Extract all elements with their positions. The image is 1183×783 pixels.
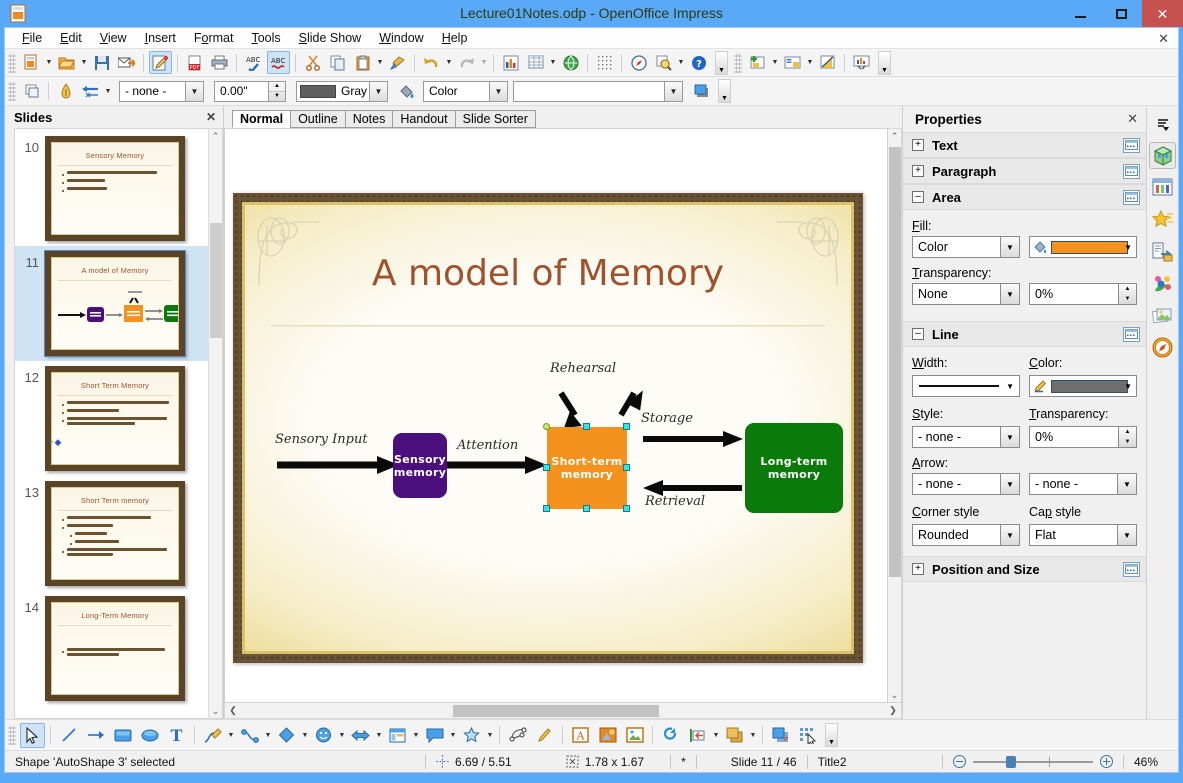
fill-type-chevron-down-icon[interactable]: ▼: [1000, 237, 1019, 257]
picture-frame-button[interactable]: [622, 723, 647, 748]
redo-button[interactable]: [455, 51, 478, 74]
close-button[interactable]: ✕: [1142, 0, 1183, 27]
slide-thumbnail[interactable]: Short Term memory: [45, 481, 185, 586]
corner-style-select[interactable]: Rounded ▼: [912, 524, 1020, 546]
text-dialog-icon[interactable]: [1123, 138, 1140, 153]
thumb-title: A model of Memory: [52, 266, 178, 275]
paint-bucket-button[interactable]: [395, 80, 418, 103]
fill-color-picker[interactable]: ▼: [1029, 236, 1137, 258]
slides-panel-header: Slides ✕: [5, 106, 223, 128]
display-grid-button[interactable]: [593, 51, 616, 74]
thumb-title: Short Term memory: [52, 496, 178, 505]
node-label-line2: memory: [551, 468, 622, 481]
maximize-button[interactable]: [1101, 0, 1142, 27]
block-arrows-dropdown[interactable]: ▼: [374, 724, 384, 747]
save-document-button[interactable]: [90, 51, 113, 74]
slide-thumbnail[interactable]: Sensory Memory: [45, 136, 185, 241]
svg-text:A: A: [576, 730, 586, 743]
menu-bar: File Edit View Insert Format Tools Slide…: [5, 28, 1178, 49]
area-dialog-icon[interactable]: [1123, 190, 1140, 205]
line-style-value: - none -: [125, 84, 166, 98]
arrow-end-chevron-down-icon[interactable]: ▼: [1117, 474, 1136, 494]
flowchart-shapes-dropdown[interactable]: ▼: [411, 724, 421, 747]
autospellcheck-button[interactable]: ABC: [267, 51, 290, 74]
stars-shapes-dropdown[interactable]: ▼: [485, 724, 495, 747]
redo-dropdown[interactable]: ▼: [479, 51, 489, 74]
alignment-button[interactable]: [685, 723, 710, 748]
slide-inner: A model of Memory: [242, 202, 854, 654]
cap-style-select[interactable]: Flat ▼: [1029, 524, 1137, 546]
arrow-start-select[interactable]: - none - ▼: [912, 473, 1020, 495]
slide-thumbnail[interactable]: Long-Term Memory: [45, 596, 185, 701]
line-style-label: Style:: [912, 407, 1020, 421]
line-width-stepper[interactable]: ▲▼: [268, 82, 285, 101]
slides-panel-scrollbar[interactable]: ⌃ ⌄: [208, 129, 222, 718]
selection-handle-w[interactable]: [543, 464, 550, 471]
thumb-title: Short Term Memory: [52, 381, 178, 390]
selection-handle-se[interactable]: [623, 505, 630, 512]
slide-design-button[interactable]: [816, 51, 839, 74]
line-section-body: Width: Color: ▼: [903, 347, 1146, 556]
tab-slide-sorter[interactable]: Slide Sorter: [455, 110, 536, 128]
slide-thumb-14[interactable]: 14 Long-Term Memory: [15, 591, 208, 706]
drawing-toolbar-overflow[interactable]: ▼: [825, 723, 838, 747]
section-position-and-size[interactable]: + Position and Size: [903, 556, 1146, 582]
line-color-swatch: [300, 85, 336, 98]
close-document-icon[interactable]: ✕: [1158, 31, 1169, 47]
menu-window[interactable]: Window: [370, 29, 432, 47]
minimize-button[interactable]: [1060, 0, 1101, 27]
line-transparency-label: Transparency:: [1029, 407, 1137, 421]
svg-text:ABC: ABC: [271, 57, 285, 65]
status-zoom-level[interactable]: 46%: [1124, 754, 1178, 770]
line-transparency-value: 0%: [1035, 430, 1053, 444]
expand-text-icon[interactable]: +: [912, 139, 924, 151]
slide-number: 10: [15, 136, 45, 155]
status-slide-counter: Slide 11 / 46: [721, 754, 807, 770]
node-long-term-memory[interactable]: Long-term memory: [745, 423, 843, 513]
area-transparency-value-field[interactable]: 0% ▲▼: [1029, 283, 1137, 305]
block-arrows-button[interactable]: [348, 723, 373, 748]
interaction-button[interactable]: [795, 723, 820, 748]
status-size-value: 1.78 x 1.67: [585, 755, 644, 769]
area-transparency-stepper[interactable]: ▲▼: [1118, 284, 1136, 304]
line-transparency-field[interactable]: 0% ▲▼: [1029, 426, 1137, 448]
zoom-slider[interactable]: [943, 754, 1123, 770]
menu-view[interactable]: View: [91, 29, 136, 47]
text-tool-button[interactable]: T: [164, 723, 189, 748]
cut-button[interactable]: [301, 51, 324, 74]
label-attention[interactable]: Attention: [457, 438, 518, 453]
slides-panel-close-icon[interactable]: ✕: [206, 110, 216, 124]
zoom-out-icon[interactable]: [953, 755, 966, 768]
ellipse-tool-button[interactable]: [137, 723, 162, 748]
section-area-label: Area: [932, 190, 1123, 205]
slide-number: 13: [15, 481, 45, 500]
slide-thumb-13[interactable]: 13 Short Term memory: [15, 476, 208, 591]
canvas-scroll-left-icon[interactable]: ❮: [225, 705, 241, 716]
sidebar-master-pages-button[interactable]: [1149, 238, 1176, 265]
expand-position-size-icon[interactable]: +: [912, 563, 924, 575]
main-toolbar-overflow[interactable]: ▼: [715, 51, 728, 75]
edit-area: Normal Outline Notes Handout Slide Sorte…: [224, 106, 902, 719]
basic-shapes-dropdown[interactable]: ▼: [300, 724, 310, 747]
linefill-toolbar-overflow[interactable]: ▼: [718, 79, 731, 103]
line-color-chevron-down-icon[interactable]: ▼: [369, 82, 387, 101]
cap-style-value: Flat: [1035, 528, 1056, 542]
title-bar: Lecture01Notes.odp - OpenOffice Impress …: [0, 0, 1183, 27]
sidebar-custom-animation-button[interactable]: [1149, 206, 1176, 233]
line-dialog-icon[interactable]: [1123, 327, 1140, 342]
fontwork-gallery-button[interactable]: A: [568, 723, 593, 748]
line-width-select[interactable]: ▼: [912, 375, 1020, 397]
new-document-dropdown[interactable]: ▼: [44, 51, 54, 74]
canvas-vscroll-track[interactable]: [888, 143, 902, 688]
new-document-button[interactable]: [20, 51, 43, 74]
arrow-style-dropdown[interactable]: ▼: [103, 80, 113, 103]
position-size-button[interactable]: [20, 80, 43, 103]
selection-handle-n[interactable]: [583, 423, 590, 430]
canvas-vertical-scrollbar[interactable]: ⌃ ⌄: [888, 128, 902, 703]
status-master: Title2: [808, 754, 857, 770]
spelling-button[interactable]: ABC: [242, 51, 265, 74]
menu-insert[interactable]: Insert: [136, 29, 185, 47]
area-fill-combo[interactable]: ▼: [513, 81, 683, 102]
slides-panel-title: Slides: [14, 110, 52, 125]
line-color-picker[interactable]: ▼: [1029, 375, 1137, 397]
thumb-title: Sensory Memory: [52, 151, 178, 160]
line-color-chevron-down-icon[interactable]: ▼: [1124, 382, 1132, 391]
selection-handle-s[interactable]: [583, 505, 590, 512]
tab-normal[interactable]: Normal: [232, 110, 291, 128]
edit-points-button[interactable]: [505, 723, 530, 748]
label-rehearsal[interactable]: Rehearsal: [550, 361, 616, 376]
line-style-chevron-down-icon[interactable]: ▼: [1000, 427, 1019, 447]
status-position-value: 6.69 / 5.51: [455, 755, 512, 769]
sidebar-navigator-button[interactable]: [1149, 334, 1176, 361]
new-slide-dropdown[interactable]: ▼: [770, 51, 780, 74]
callout-shapes-dropdown[interactable]: ▼: [448, 724, 458, 747]
status-slide-counter-value: Slide 11 / 46: [731, 755, 797, 769]
area-transparency-label: Transparency:: [912, 266, 1137, 280]
expand-paragraph-icon[interactable]: +: [912, 165, 924, 177]
svg-text:?: ?: [696, 59, 702, 70]
selection-handle-e[interactable]: [623, 464, 630, 471]
open-document-dropdown[interactable]: ▼: [79, 51, 89, 74]
flowchart-shapes-button[interactable]: [385, 723, 410, 748]
sidebar-properties-button[interactable]: [1149, 142, 1176, 169]
node-label-line2: memory: [394, 466, 446, 479]
canvas-vscroll-thumb[interactable]: [889, 147, 901, 577]
slide-thumb-12[interactable]: 12 Short Term Memory: [15, 361, 208, 476]
pencil-line-icon: [1033, 379, 1048, 393]
images-stack-icon: [1152, 306, 1173, 325]
callout-shapes-button[interactable]: [422, 723, 447, 748]
line-width-preview: [919, 385, 999, 387]
insert-table-button[interactable]: [524, 51, 547, 74]
sidebar-slide-transition-button[interactable]: [1149, 174, 1176, 201]
selection-handle-ne[interactable]: [623, 423, 630, 430]
status-size: 1.78 x 1.67: [556, 754, 654, 770]
menu-slideshow[interactable]: Slide Show: [290, 29, 371, 47]
slides-scroll-track[interactable]: [209, 143, 223, 704]
properties-header: Properties ✕: [903, 106, 1146, 132]
canvas-scroll-down-icon[interactable]: ⌄: [891, 688, 899, 702]
slide-canvas[interactable]: A model of Memory: [224, 128, 888, 703]
area-fill-chevron-down-icon[interactable]: ▼: [664, 82, 682, 101]
line-style-combo[interactable]: - none - ▼: [119, 81, 204, 102]
slide-layout-button[interactable]: [781, 51, 804, 74]
slide-thumb-10[interactable]: 10 Sensory Memory: [15, 131, 208, 246]
impress-window: Lecture01Notes.odp - OpenOffice Impress …: [0, 0, 1183, 783]
position-size-dialog-icon[interactable]: [1123, 562, 1140, 577]
corner-style-chevron-down-icon[interactable]: ▼: [1000, 525, 1019, 545]
email-document-button[interactable]: [115, 51, 138, 74]
insert-table-dropdown[interactable]: ▼: [548, 51, 558, 74]
open-document-button[interactable]: [55, 51, 78, 74]
connector-tool-button[interactable]: [237, 723, 262, 748]
section-line[interactable]: – Line: [903, 321, 1146, 347]
status-modified-value: *: [681, 755, 686, 769]
arrow-tool-button[interactable]: [83, 723, 108, 748]
paste-button[interactable]: [351, 51, 374, 74]
node-label-line1: Short-term: [551, 455, 622, 468]
tab-notes[interactable]: Notes: [345, 110, 394, 128]
master-pages-icon: [1152, 242, 1173, 262]
status-position: 6.69 / 5.51: [426, 754, 522, 770]
insert-chart-button[interactable]: [499, 51, 522, 74]
thumb-diagram: [52, 285, 178, 331]
scroll-down-icon[interactable]: ⌄: [212, 704, 220, 718]
zoom-knob[interactable]: [1006, 756, 1016, 768]
alignment-dropdown[interactable]: ▼: [711, 724, 721, 747]
slide-thumbnail[interactable]: A model of Memory: [45, 251, 185, 356]
navigator-button[interactable]: [627, 51, 650, 74]
canvas-scroll-right-icon[interactable]: ❯: [885, 705, 901, 716]
insert-image-button[interactable]: [559, 51, 582, 74]
shadow-shape-button[interactable]: [768, 723, 793, 748]
collapse-line-icon[interactable]: –: [912, 328, 924, 340]
arrow-label: Arrow:: [912, 456, 1137, 470]
fill-type-select[interactable]: Color ▼: [912, 236, 1020, 258]
slide-surface[interactable]: A model of Memory: [233, 193, 863, 663]
status-modified: *: [671, 754, 696, 770]
section-text[interactable]: + Text: [903, 132, 1146, 158]
select-tool-button[interactable]: [20, 723, 45, 748]
slides-panel: Slides ✕ 10 Sensory Memory: [5, 106, 224, 719]
tab-outline[interactable]: Outline: [290, 110, 346, 128]
fill-color-chevron-down-icon[interactable]: ▼: [1124, 243, 1132, 252]
zoom-in-icon[interactable]: [1100, 755, 1113, 768]
animation-marker-icon: ⁘◆: [47, 437, 61, 448]
canvas-hscroll-track[interactable]: [241, 704, 885, 718]
size-bounds-icon: [566, 755, 579, 768]
zoom-center-tick: [1049, 757, 1050, 767]
toolbar-grip[interactable]: [8, 53, 16, 73]
node-short-term-memory[interactable]: Short-term memory: [547, 427, 627, 509]
label-retrieval[interactable]: Retrieval: [645, 494, 705, 509]
line-color-label: Color:: [1029, 356, 1137, 370]
sidebar-images-button[interactable]: [1149, 302, 1176, 329]
edit-wrap: A model of Memory: [224, 128, 902, 703]
client-area: File Edit View Insert Format Tools Slide…: [4, 27, 1179, 773]
menu-file[interactable]: File: [13, 29, 51, 47]
cap-style-chevron-down-icon[interactable]: ▼: [1117, 525, 1136, 545]
line-width-label: Width:: [912, 356, 1020, 370]
gallery-flowers-icon: [1152, 274, 1173, 294]
line-width-chevron-down-icon[interactable]: ▼: [1006, 382, 1014, 391]
undo-dropdown[interactable]: ▼: [444, 51, 454, 74]
line-style-select[interactable]: - none - ▼: [912, 426, 1020, 448]
line-style-chevron-down-icon[interactable]: ▼: [185, 82, 203, 101]
zoom-dropdown[interactable]: ▼: [676, 51, 686, 74]
selection-handle-nw[interactable]: [543, 423, 550, 430]
insert-shape-image-button[interactable]: [595, 723, 620, 748]
clone-formatting-button[interactable]: [386, 51, 409, 74]
slides-scroll-thumb[interactable]: [210, 223, 222, 338]
paste-dropdown[interactable]: ▼: [375, 51, 385, 74]
status-zoom-value: 46%: [1134, 755, 1158, 769]
rotate-button[interactable]: [658, 723, 683, 748]
zoom-button[interactable]: [652, 51, 675, 74]
arrow-end-select[interactable]: - none - ▼: [1029, 473, 1137, 495]
line-pen-button[interactable]: [54, 80, 77, 103]
rectangle-tool-button[interactable]: [110, 723, 135, 748]
line-and-filling-toolbar: ▼ - none - ▼ 0.00" ▲▼ Gray 6 ▼ Color ▼: [5, 77, 1178, 106]
arrange-dropdown[interactable]: ▼: [748, 724, 758, 747]
basic-shapes-button[interactable]: [274, 723, 299, 748]
area-section-body: Fill: Color ▼: [903, 210, 1146, 321]
section-paragraph-label: Paragraph: [932, 164, 1123, 179]
status-master-value: Title2: [818, 755, 847, 769]
line-color-combo[interactable]: Gray 6 ▼: [296, 81, 388, 102]
status-selection-text: Shape 'AutoShape 3' selected: [15, 755, 175, 769]
cap-style-label: Cap style: [1029, 505, 1137, 519]
stars-shapes-button[interactable]: [459, 723, 484, 748]
area-transparency-select[interactable]: None ▼: [912, 283, 1020, 305]
export-pdf-button[interactable]: PDF: [183, 51, 206, 74]
print-document-button[interactable]: [208, 51, 231, 74]
symbol-shapes-dropdown[interactable]: ▼: [337, 724, 347, 747]
help-button[interactable]: ?: [687, 51, 710, 74]
node-label-line1: Sensory: [394, 453, 446, 466]
line-color-swatch: [1051, 380, 1128, 393]
slide-thumbnail[interactable]: Short Term Memory: [45, 366, 185, 471]
section-paragraph[interactable]: + Paragraph: [903, 158, 1146, 184]
symbol-shapes-button[interactable]: [311, 723, 336, 748]
arrow-end-value: - none -: [1035, 477, 1078, 491]
status-selection: Shape 'AutoShape 3' selected: [5, 754, 425, 770]
fill-type-value: Color: [918, 240, 948, 254]
line-width-field[interactable]: 0.00" ▲▼: [214, 81, 286, 102]
slide-title-text[interactable]: A model of Memory: [245, 253, 851, 294]
arrow-start-chevron-down-icon[interactable]: ▼: [1000, 474, 1019, 494]
workspace: Slides ✕ 10 Sensory Memory: [5, 106, 1178, 719]
curve-tool-button[interactable]: [200, 723, 225, 748]
copy-button[interactable]: [326, 51, 349, 74]
line-style-value: - none -: [918, 430, 961, 444]
position-crosshair-icon: [436, 755, 449, 768]
arrange-button[interactable]: [722, 723, 747, 748]
drawing-toolbar: T ▼ ▼ ▼ ▼ ▼: [5, 719, 1178, 750]
slide-number: 14: [15, 596, 45, 615]
area-style-chevron-down-icon[interactable]: ▼: [489, 82, 507, 101]
slide-toolbar-overflow[interactable]: ▼: [878, 51, 891, 75]
window-title: Lecture01Notes.odp - OpenOffice Impress: [0, 5, 1183, 21]
slide-thumb-11[interactable]: 11 A model of Memory: [15, 246, 208, 361]
section-line-label: Line: [932, 327, 1123, 342]
node-label-line2: memory: [760, 468, 827, 481]
menu-format[interactable]: Format: [185, 29, 243, 47]
scroll-up-icon[interactable]: ⌃: [212, 129, 220, 143]
line-transparency-stepper[interactable]: ▲▼: [1118, 427, 1136, 447]
section-position-size-label: Position and Size: [932, 562, 1123, 577]
canvas-scroll-up-icon[interactable]: ⌃: [891, 129, 899, 143]
slide-divider: [271, 325, 825, 327]
properties-close-icon[interactable]: ✕: [1127, 111, 1138, 127]
sidebar-gallery-button[interactable]: [1149, 270, 1176, 297]
drawbar-grip[interactable]: [8, 725, 16, 745]
menu-edit[interactable]: Edit: [51, 29, 91, 47]
arrow-style-button[interactable]: [79, 80, 102, 103]
menu-help[interactable]: Help: [433, 29, 477, 47]
svg-text:ABC: ABC: [246, 56, 260, 64]
fill-color-swatch: [1051, 241, 1128, 254]
toolbar-grip-2[interactable]: [734, 53, 742, 73]
properties-filler: [903, 582, 1146, 719]
slides-scroll-area[interactable]: 10 Sensory Memory: [15, 129, 208, 718]
line-tool-button[interactable]: [56, 723, 81, 748]
paragraph-dialog-icon[interactable]: [1123, 164, 1140, 179]
connector-tool-dropdown[interactable]: ▼: [263, 724, 273, 747]
undo-button[interactable]: [420, 51, 443, 74]
view-tabs: Normal Outline Notes Handout Slide Sorte…: [224, 106, 902, 128]
sidebar-icon-strip: [1146, 106, 1178, 719]
edit-mode-button[interactable]: [149, 51, 172, 74]
tab-handout[interactable]: Handout: [392, 110, 455, 128]
label-sensory-input[interactable]: Sensory Input: [275, 432, 368, 447]
thumb-title: Long-Term Memory: [52, 611, 178, 620]
section-area[interactable]: – Area: [903, 184, 1146, 210]
area-style-value: Color: [429, 84, 458, 98]
area-transparency-chevron-down-icon[interactable]: ▼: [1000, 284, 1019, 304]
linefill-grip[interactable]: [8, 81, 16, 101]
arrow-start-value: - none -: [918, 477, 961, 491]
slide-layout-dropdown[interactable]: ▼: [805, 51, 815, 74]
collapse-area-icon[interactable]: –: [912, 191, 924, 203]
sidebar-settings-button[interactable]: [1149, 110, 1176, 137]
menu-tools[interactable]: Tools: [242, 29, 289, 47]
fill-label: Fill:: [912, 219, 1137, 233]
curve-tool-dropdown[interactable]: ▼: [226, 724, 236, 747]
line-width-value: 0.00": [220, 84, 248, 98]
canvas-horizontal-scrollbar[interactable]: ❮ ❯: [224, 703, 902, 719]
svg-text:PDF: PDF: [189, 65, 199, 71]
canvas-hscroll-thumb[interactable]: [453, 705, 659, 717]
star-animation-icon: [1152, 210, 1174, 230]
node-sensory-memory[interactable]: Sensory memory: [393, 433, 447, 498]
corner-style-value: Rounded: [918, 528, 969, 542]
glue-points-button[interactable]: [532, 723, 557, 748]
new-slide-button[interactable]: [746, 51, 769, 74]
properties-cube-icon: [1152, 145, 1174, 167]
start-slideshow-button[interactable]: [850, 51, 873, 74]
selection-handle-sw[interactable]: [543, 505, 550, 512]
area-style-combo[interactable]: Color ▼: [423, 81, 508, 102]
shadow-button[interactable]: [690, 80, 713, 103]
zoom-track[interactable]: [973, 761, 1093, 763]
label-storage[interactable]: Storage: [641, 411, 693, 426]
